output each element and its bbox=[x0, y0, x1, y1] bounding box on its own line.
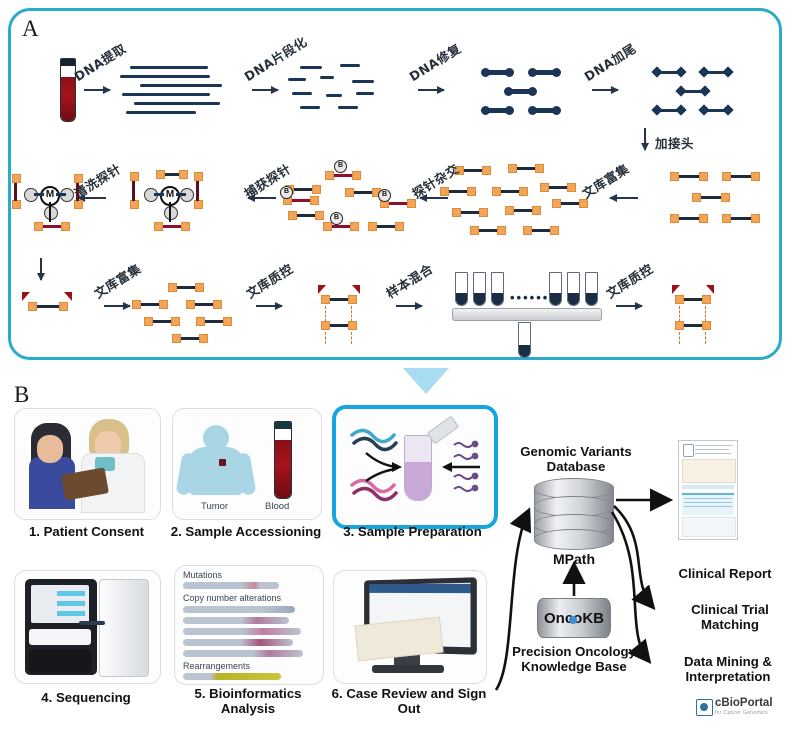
caption-patient-consent: 1. Patient Consent bbox=[4, 524, 169, 539]
label-mutations: Mutations bbox=[183, 570, 222, 580]
tube-blood-fill bbox=[61, 77, 75, 121]
arrow-step-13 bbox=[616, 305, 642, 307]
arrow-step-3 bbox=[418, 89, 444, 91]
oncokb-dot-icon bbox=[569, 616, 577, 624]
cbioportal-mark-icon bbox=[696, 699, 713, 716]
caption-case-review: 6. Case Review and Sign Out bbox=[330, 686, 488, 716]
database-cylinder-icon bbox=[534, 478, 614, 550]
probe-icon-1: B bbox=[334, 160, 347, 173]
magnetic-bead-capture-complex-1: M bbox=[12, 170, 88, 240]
probe-icon-4: B bbox=[330, 212, 343, 225]
arrow-step-7 bbox=[420, 197, 448, 199]
knowledge-base-caption: Precision OncologyKnowledge Base bbox=[492, 644, 656, 674]
output-label-clinical-trial-matching: Clinical TrialMatching bbox=[660, 602, 800, 632]
arrow-step-2 bbox=[252, 89, 278, 91]
label-rearrangements: Rearrangements bbox=[183, 661, 250, 671]
arrow-step-1 bbox=[84, 89, 110, 91]
label-cna: Copy number alterations bbox=[183, 593, 281, 603]
output-label-data-mining: Data Mining &Interpretation bbox=[655, 654, 800, 684]
funnel-arrow-to-sample-prep bbox=[403, 368, 449, 394]
arrow-step-10 bbox=[104, 305, 130, 307]
pooling-ellipsis: •••••• bbox=[510, 290, 549, 305]
card-sequencing[interactable] bbox=[14, 570, 161, 684]
card-patient-consent[interactable] bbox=[14, 408, 161, 520]
arrow-step-6 bbox=[610, 197, 638, 199]
index-triangle-right bbox=[64, 292, 72, 301]
blood-tube-icon bbox=[274, 421, 292, 499]
card-sample-accessioning[interactable]: Tumor Blood bbox=[172, 408, 322, 520]
panel-b-letter: B bbox=[14, 382, 29, 408]
caption-sequencing: 4. Sequencing bbox=[10, 690, 162, 705]
label-blood: Blood bbox=[265, 501, 289, 512]
label-tumor: Tumor bbox=[201, 501, 228, 512]
output-label-clinical-report: Clinical Report bbox=[655, 566, 795, 581]
caption-bioinformatics-analysis: 5. Bioinformatics Analysis bbox=[172, 686, 324, 716]
probe-icon-2: B bbox=[280, 186, 293, 199]
microcentrifuge-tube bbox=[404, 435, 432, 501]
arrow-step-4 bbox=[592, 89, 618, 91]
database-title: Genomic VariantsDatabase bbox=[496, 444, 656, 474]
arrow-step-8 bbox=[248, 197, 276, 199]
arrow-step-12 bbox=[396, 305, 422, 307]
printed-report-sheet bbox=[354, 617, 443, 662]
probe-icon-3: B bbox=[378, 189, 391, 202]
database-name: MPath bbox=[514, 552, 634, 567]
arrow-down-to-row3 bbox=[40, 258, 42, 280]
tumor-marker-icon bbox=[219, 459, 226, 466]
step-label-add-adapter: 加接头 bbox=[655, 133, 694, 152]
cbioportal-name: cBioPortal bbox=[715, 697, 773, 709]
card-sample-preparation[interactable] bbox=[332, 405, 498, 529]
clinical-report-thumbnail[interactable] bbox=[678, 440, 738, 540]
card-bioinformatics-analysis[interactable]: Mutations Copy number alterations Rearra… bbox=[174, 565, 324, 685]
magnetic-bead-capture-complex-2: M bbox=[128, 170, 208, 240]
pooling-bracket bbox=[452, 308, 602, 321]
caption-sample-preparation: 3. Sample Preparation bbox=[330, 524, 495, 539]
arrow-step-11 bbox=[256, 305, 282, 307]
arrow-add-adapter bbox=[644, 128, 646, 150]
oncokb-logo: OncoKB bbox=[537, 598, 611, 638]
pipette-tip-icon bbox=[427, 416, 459, 445]
pooled-tube bbox=[518, 322, 531, 358]
caption-sample-accessioning: 2. Sample Accessioning bbox=[160, 524, 332, 539]
card-case-review[interactable] bbox=[333, 570, 487, 684]
cbioportal-tagline: for Cancer Genomics bbox=[715, 710, 768, 716]
cbioportal-logo[interactable]: cBioPortal for Cancer Genomics bbox=[696, 696, 788, 722]
index-triangle-left bbox=[22, 292, 30, 301]
panel-a-letter: A bbox=[22, 16, 39, 42]
tube-cap bbox=[60, 58, 76, 66]
